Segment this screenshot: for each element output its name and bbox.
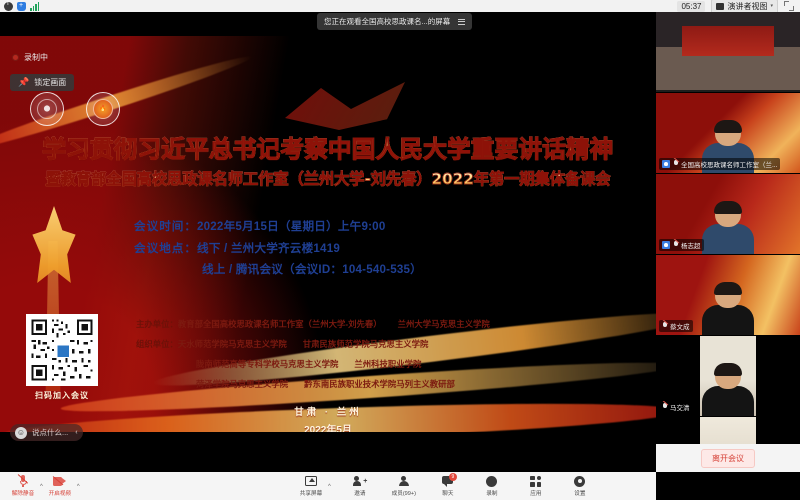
organizing-org-item-3: 陇南师范高等专科学校马克思主义学院: [196, 359, 338, 369]
settings-button[interactable]: 设置: [565, 475, 595, 498]
signal-icon[interactable]: [30, 2, 39, 11]
record-label: 录制: [486, 489, 497, 497]
participants-label: 成员(99+): [392, 489, 416, 497]
chat-icon: 9: [442, 475, 454, 488]
organizing-org-line-2: 陇南师范高等专科学校马克思主义学院兰州科技职业学院: [136, 358, 490, 370]
meeting-online-value: 线上 / 腾讯会议（会议ID：104-540-535）: [202, 263, 422, 276]
settings-label: 设置: [574, 489, 585, 497]
meeting-time-label: 会议时间：: [134, 220, 197, 233]
torch-emblem-logo: 🔥: [86, 92, 120, 126]
organizing-org-label: 组织单位：: [136, 339, 178, 349]
organizing-org-item-4: 兰州科技职业学院: [354, 359, 421, 369]
meeting-info-block: 会议时间：2022年5月15日（星期日）上午9:00 会议地点：线下 / 兰州大…: [134, 218, 422, 283]
organizing-org-item-2: 甘肃民族师范学院马克思主义学院: [303, 339, 429, 349]
participant-tile[interactable]: 蔡文成: [656, 255, 800, 336]
join-meeting-qr-block: 扫码加入会议: [26, 314, 98, 401]
meeting-toolbar: 解除静音 ^ 开启视频 ^ 共享屏幕 ^ +: [0, 472, 656, 500]
emoji-icon[interactable]: ☺: [15, 427, 27, 439]
qr-caption: 扫码加入会议: [26, 390, 98, 401]
leave-meeting-button[interactable]: 离开会议: [701, 449, 755, 468]
meeting-time-line: 会议时间：2022年5月15日（星期日）上午9:00: [134, 218, 422, 234]
organizers-block: 主办单位：教育部全国高校思政课名师工作室（兰州大学-刘先春）兰州大学马克思主义学…: [136, 318, 490, 398]
toolbar-center-group: 共享屏幕 ^ + 邀请 成员(99+) 9: [296, 475, 595, 498]
poster-place: 甘肃 · 兰州: [0, 404, 656, 418]
video-feed: [656, 12, 800, 92]
invite-button[interactable]: + 邀请: [345, 475, 375, 498]
participant-tile[interactable]: 全国高校思政课名师工作室（兰...: [656, 93, 800, 174]
record-icon: [486, 475, 497, 488]
fullscreen-icon[interactable]: [784, 1, 794, 11]
chevron-down-icon: ▾: [770, 3, 773, 9]
meeting-time-value: 2022年5月15日（星期日）上午9:00: [197, 220, 385, 233]
shared-screen-stage[interactable]: ⬤ 🔥 学习贯彻习近平总书记考察中国人民大学重要讲话精神 暨教育部全国高校思政课…: [0, 12, 656, 472]
participants-button[interactable]: 成员(99+): [389, 475, 419, 498]
meeting-location-line: 会议地点：线下 / 兰州大学齐云楼1419: [134, 240, 422, 256]
pin-icon: 📌: [18, 77, 29, 88]
invite-label: 邀请: [354, 489, 365, 497]
host-icon: [662, 241, 670, 249]
poster-subheadline: 暨教育部全国高校思政课名师工作室（兰州大学-刘先春）2022年第一期集体备课会: [0, 167, 656, 189]
participant-nametag: 马交清: [659, 401, 693, 413]
mic-muted-icon: [662, 403, 667, 411]
organizing-org-item-6: 黔东南民族职业技术学院马列主义教研部: [304, 379, 455, 389]
speaker-view-icon: [716, 3, 724, 10]
participant-tile[interactable]: 马交清: [656, 336, 800, 417]
poster-logos: ⬤ 🔥: [30, 92, 120, 126]
recording-label: 录制中: [24, 52, 48, 63]
info-icon[interactable]: [4, 2, 13, 11]
poster-date: 2022年5月: [0, 421, 656, 432]
start-video-button[interactable]: 开启视频: [45, 475, 75, 498]
lock-screen-button[interactable]: 📌 锁定画面: [10, 74, 74, 91]
recording-indicator: 录制中: [12, 52, 48, 63]
poster-footer: 甘肃 · 兰州 2022年5月: [0, 404, 656, 432]
host-org-item-1: 教育部全国高校思政课名师工作室（兰州大学-刘先春）: [178, 319, 382, 329]
participant-tile[interactable]: 杨志超: [656, 174, 800, 255]
participants-icon: [398, 475, 409, 488]
qr-code-icon: [26, 314, 98, 386]
participant-nametag: 全国高校思政课名师工作室（兰...: [659, 158, 780, 170]
system-tray-icons: [0, 2, 39, 11]
meeting-app-window: 05:37 演讲者视图 ▾ 您正在观看全国高校思政课名...的屏幕 ⬤: [0, 0, 800, 500]
leave-meeting-bar: 离开会议: [656, 444, 800, 472]
video-options-chevron-icon[interactable]: ^: [77, 484, 80, 490]
toolbar-left-group: 解除静音 ^ 开启视频 ^: [0, 475, 80, 498]
share-banner-text: 您正在观看全国高校思政课名...的屏幕: [324, 16, 450, 27]
lanzhou-university-logo: ⬤: [30, 92, 64, 126]
participant-nametag: 杨志超: [659, 239, 704, 251]
chat-label: 聊天: [442, 489, 453, 497]
participant-name: 全国高校思政课名师工作室（兰...: [681, 159, 777, 169]
view-mode-label: 演讲者视图: [727, 1, 767, 12]
start-video-label: 开启视频: [49, 489, 71, 497]
mic-muted-icon: [19, 475, 27, 488]
poster-headline: 学习贯彻习近平总书记考察中国人民大学重要讲话精神: [0, 130, 656, 164]
participant-name: 马交清: [670, 402, 690, 412]
share-screen-label: 共享屏幕: [300, 489, 322, 497]
settings-gear-icon: [574, 475, 585, 488]
share-screen-button[interactable]: 共享屏幕: [296, 475, 326, 498]
quick-chat-placeholder: 说点什么...: [32, 427, 68, 438]
host-org-line: 主办单位：教育部全国高校思政课名师工作室（兰州大学-刘先春）兰州大学马克思主义学…: [136, 318, 490, 330]
banner-menu-icon[interactable]: [458, 19, 465, 25]
unmute-label: 解除静音: [12, 489, 34, 497]
shared-poster-content: ⬤ 🔥 学习贯彻习近平总书记考察中国人民大学重要讲话精神 暨教育部全国高校思政课…: [0, 36, 656, 432]
lock-screen-label: 锁定画面: [34, 77, 66, 88]
participant-nametag: 蔡文成: [659, 320, 693, 332]
mic-muted-icon: [673, 241, 678, 249]
meeting-online-line: 线上 / 腾讯会议（会议ID：104-540-535）: [134, 261, 422, 277]
chat-unread-badge: 9: [449, 473, 457, 481]
apps-button[interactable]: 应用: [521, 475, 551, 498]
mic-muted-icon: [662, 322, 667, 330]
organizing-org-line-3: 菏泽学院马克思主义学院黔东南民族职业技术学院马列主义教研部: [136, 378, 490, 390]
screen-share-banner[interactable]: 您正在观看全国高校思政课名...的屏幕: [317, 13, 472, 30]
participant-name: 蔡文成: [670, 321, 690, 331]
chevron-left-icon[interactable]: ‹: [73, 429, 77, 436]
meeting-location-value: 线下 / 兰州大学齐云楼1419: [197, 242, 340, 255]
quick-chat-input-bar[interactable]: ☺ 说点什么... ‹: [10, 424, 83, 441]
record-dot-icon: [12, 54, 19, 61]
participants-filmstrip[interactable]: 正在讲话: 全国高校思政课名师工作室（兰...: [656, 12, 800, 472]
apps-icon: [530, 475, 541, 488]
chat-button[interactable]: 9 聊天: [433, 475, 463, 498]
host-org-item-2: 兰州大学马克思主义学院: [398, 319, 490, 329]
organizing-org-item-5: 菏泽学院马克思主义学院: [196, 379, 288, 389]
host-icon: [662, 160, 670, 168]
mic-muted-icon: [673, 160, 678, 168]
poster-title-block: 学习贯彻习近平总书记考察中国人民大学重要讲话精神 暨教育部全国高校思政课名师工作…: [0, 130, 656, 189]
mic-options-chevron-icon[interactable]: ^: [40, 484, 43, 490]
unmute-button[interactable]: 解除静音: [8, 475, 38, 498]
apps-label: 应用: [530, 489, 541, 497]
organizing-org-line: 组织单位：天水师范学院马克思主义学院甘肃民族师范学院马克思主义学院: [136, 338, 490, 350]
invite-icon: +: [353, 475, 366, 488]
meeting-clock: 05:37: [677, 1, 705, 12]
system-top-bar: 05:37 演讲者视图 ▾: [0, 0, 800, 12]
camera-off-icon: [53, 475, 66, 488]
organizing-org-item-1: 天水师范学院马克思主义学院: [178, 339, 287, 349]
host-org-label: 主办单位：: [136, 319, 178, 329]
participant-tile[interactable]: 正在讲话:: [656, 12, 800, 93]
meeting-location-label: 会议地点：: [134, 242, 197, 255]
share-options-chevron-icon[interactable]: ^: [328, 484, 331, 490]
shield-icon[interactable]: [17, 2, 26, 11]
share-screen-icon: [305, 475, 317, 488]
participant-name: 杨志超: [681, 240, 701, 250]
record-button[interactable]: 录制: [477, 475, 507, 498]
